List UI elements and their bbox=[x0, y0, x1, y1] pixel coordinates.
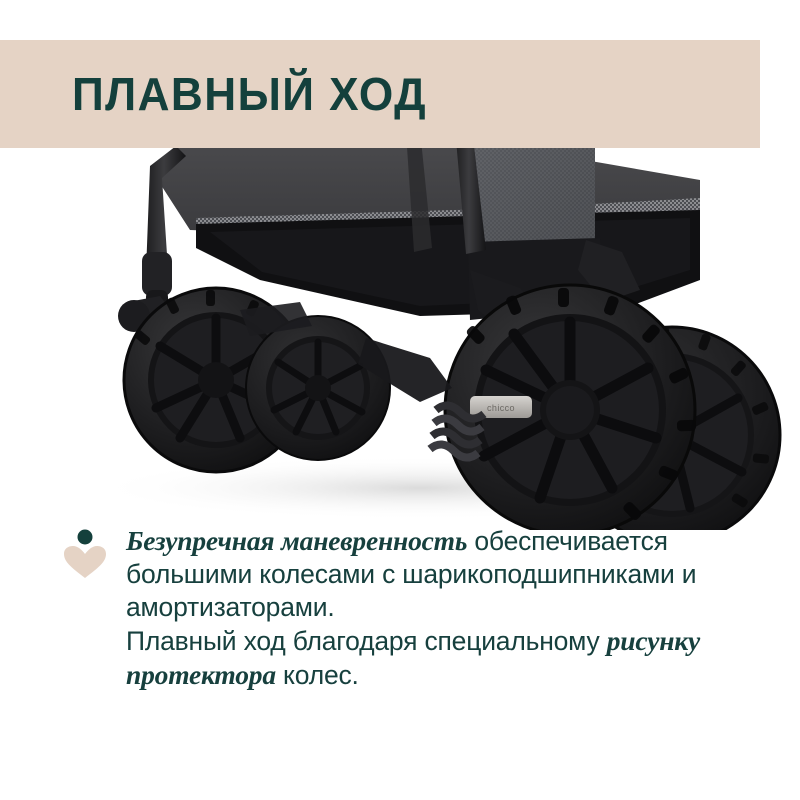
feature-description: Безупречная маневренность обеспечивается… bbox=[126, 524, 746, 692]
svg-text:chicco: chicco bbox=[487, 403, 515, 413]
promo-page: chicco bbox=[0, 0, 800, 800]
stroller-illustration: chicco bbox=[0, 120, 800, 530]
description-line2: шарикоподшипниками и bbox=[402, 559, 696, 589]
description-lead: Безупречная маневренность bbox=[126, 525, 467, 556]
description-line3: амортизаторами. bbox=[126, 592, 335, 622]
person-heart-bullet-icon bbox=[58, 524, 122, 584]
wheel-front-right bbox=[246, 316, 390, 460]
description-line4: Плавный ход благодаря специальному bbox=[126, 626, 600, 656]
page-title: ПЛАВНЫЙ ХОД bbox=[72, 71, 427, 117]
product-photo: chicco bbox=[0, 120, 800, 530]
feature-bullet: Безупречная маневренность обеспечивается… bbox=[0, 524, 800, 692]
bullet-heart-shape bbox=[64, 546, 106, 578]
description-paragraph-2: Плавный ход благодаря специальному рисун… bbox=[126, 624, 746, 692]
description-line5-rest: колес. bbox=[276, 660, 359, 690]
bullet-dot bbox=[78, 530, 93, 545]
title-banner: ПЛАВНЫЙ ХОД bbox=[0, 40, 760, 148]
description-paragraph-1: Безупречная маневренность обеспечивается… bbox=[126, 524, 746, 624]
wheel-rear-left: chicco bbox=[445, 285, 696, 530]
